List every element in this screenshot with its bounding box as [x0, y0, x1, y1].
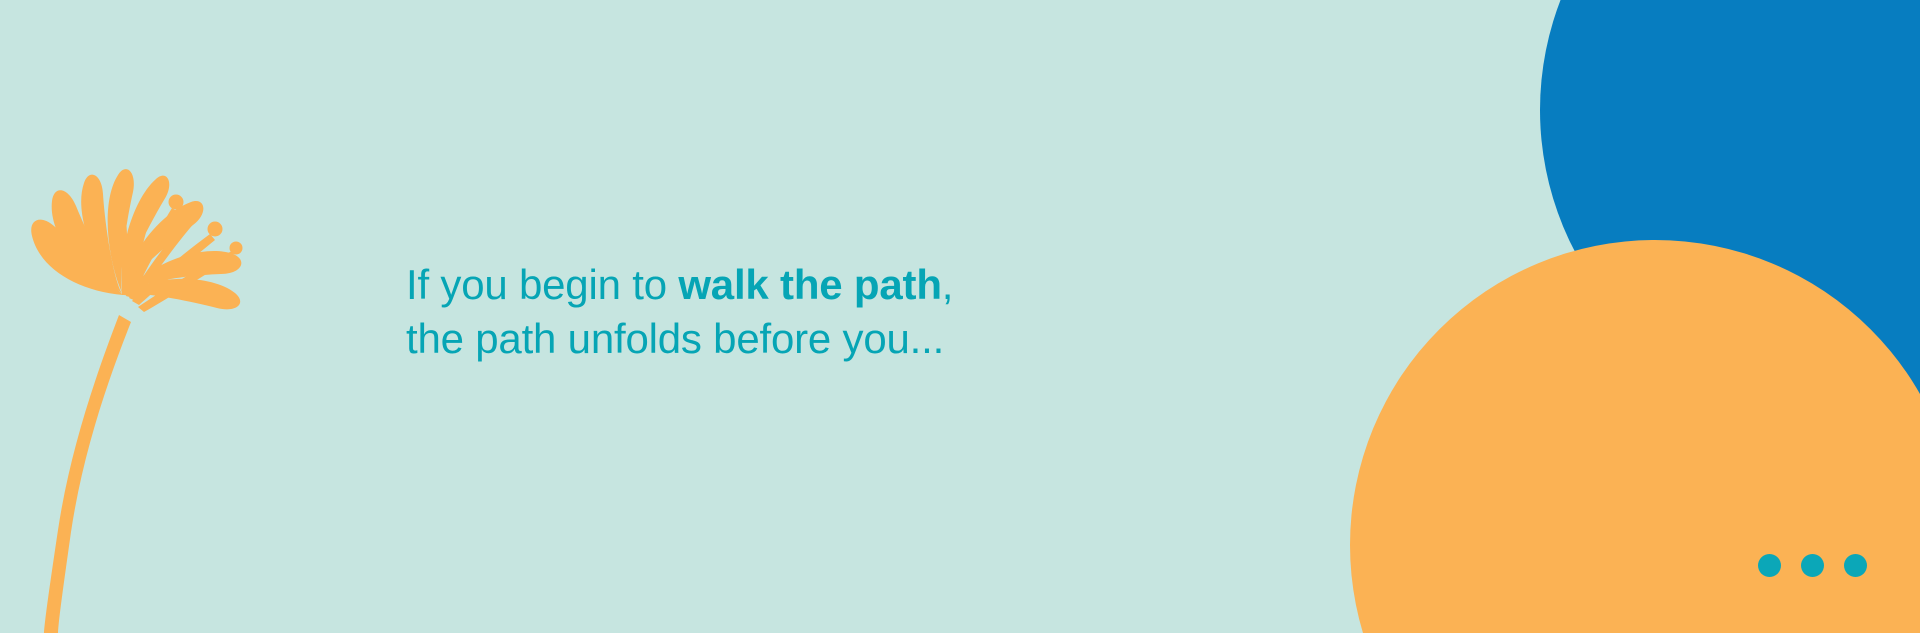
teal-dot-3 [1844, 554, 1867, 577]
dandelion-flower-icon [18, 150, 318, 633]
quote-banner: If you begin to walk the path, the path … [0, 0, 1920, 633]
stamen-tip-5 [208, 222, 223, 237]
stamen-tip-3 [169, 195, 184, 210]
quote-line-2: the path unfolds before you... [406, 312, 1166, 366]
teal-dot-2 [1801, 554, 1824, 577]
stamen-tip-1 [115, 189, 130, 204]
quote-segment-plain-2: the path unfolds before you... [406, 315, 944, 362]
quote-segment-plain: If you begin to [406, 261, 678, 308]
teal-dot-1 [1758, 554, 1781, 577]
blue-circle [1540, 0, 1920, 415]
flower-stem [44, 315, 131, 633]
quote-line-1: If you begin to walk the path, [406, 258, 1166, 312]
stamen-tip-2 [143, 193, 158, 208]
quote-text: If you begin to walk the path, the path … [406, 258, 1166, 366]
flower-illustration [18, 150, 318, 633]
teal-dots-group [1758, 554, 1867, 577]
stamen-tip-4 [188, 203, 203, 218]
quote-segment-comma: , [942, 261, 953, 308]
quote-segment-emphasis: walk the path [678, 261, 941, 308]
stamen-tip-6 [230, 242, 243, 255]
